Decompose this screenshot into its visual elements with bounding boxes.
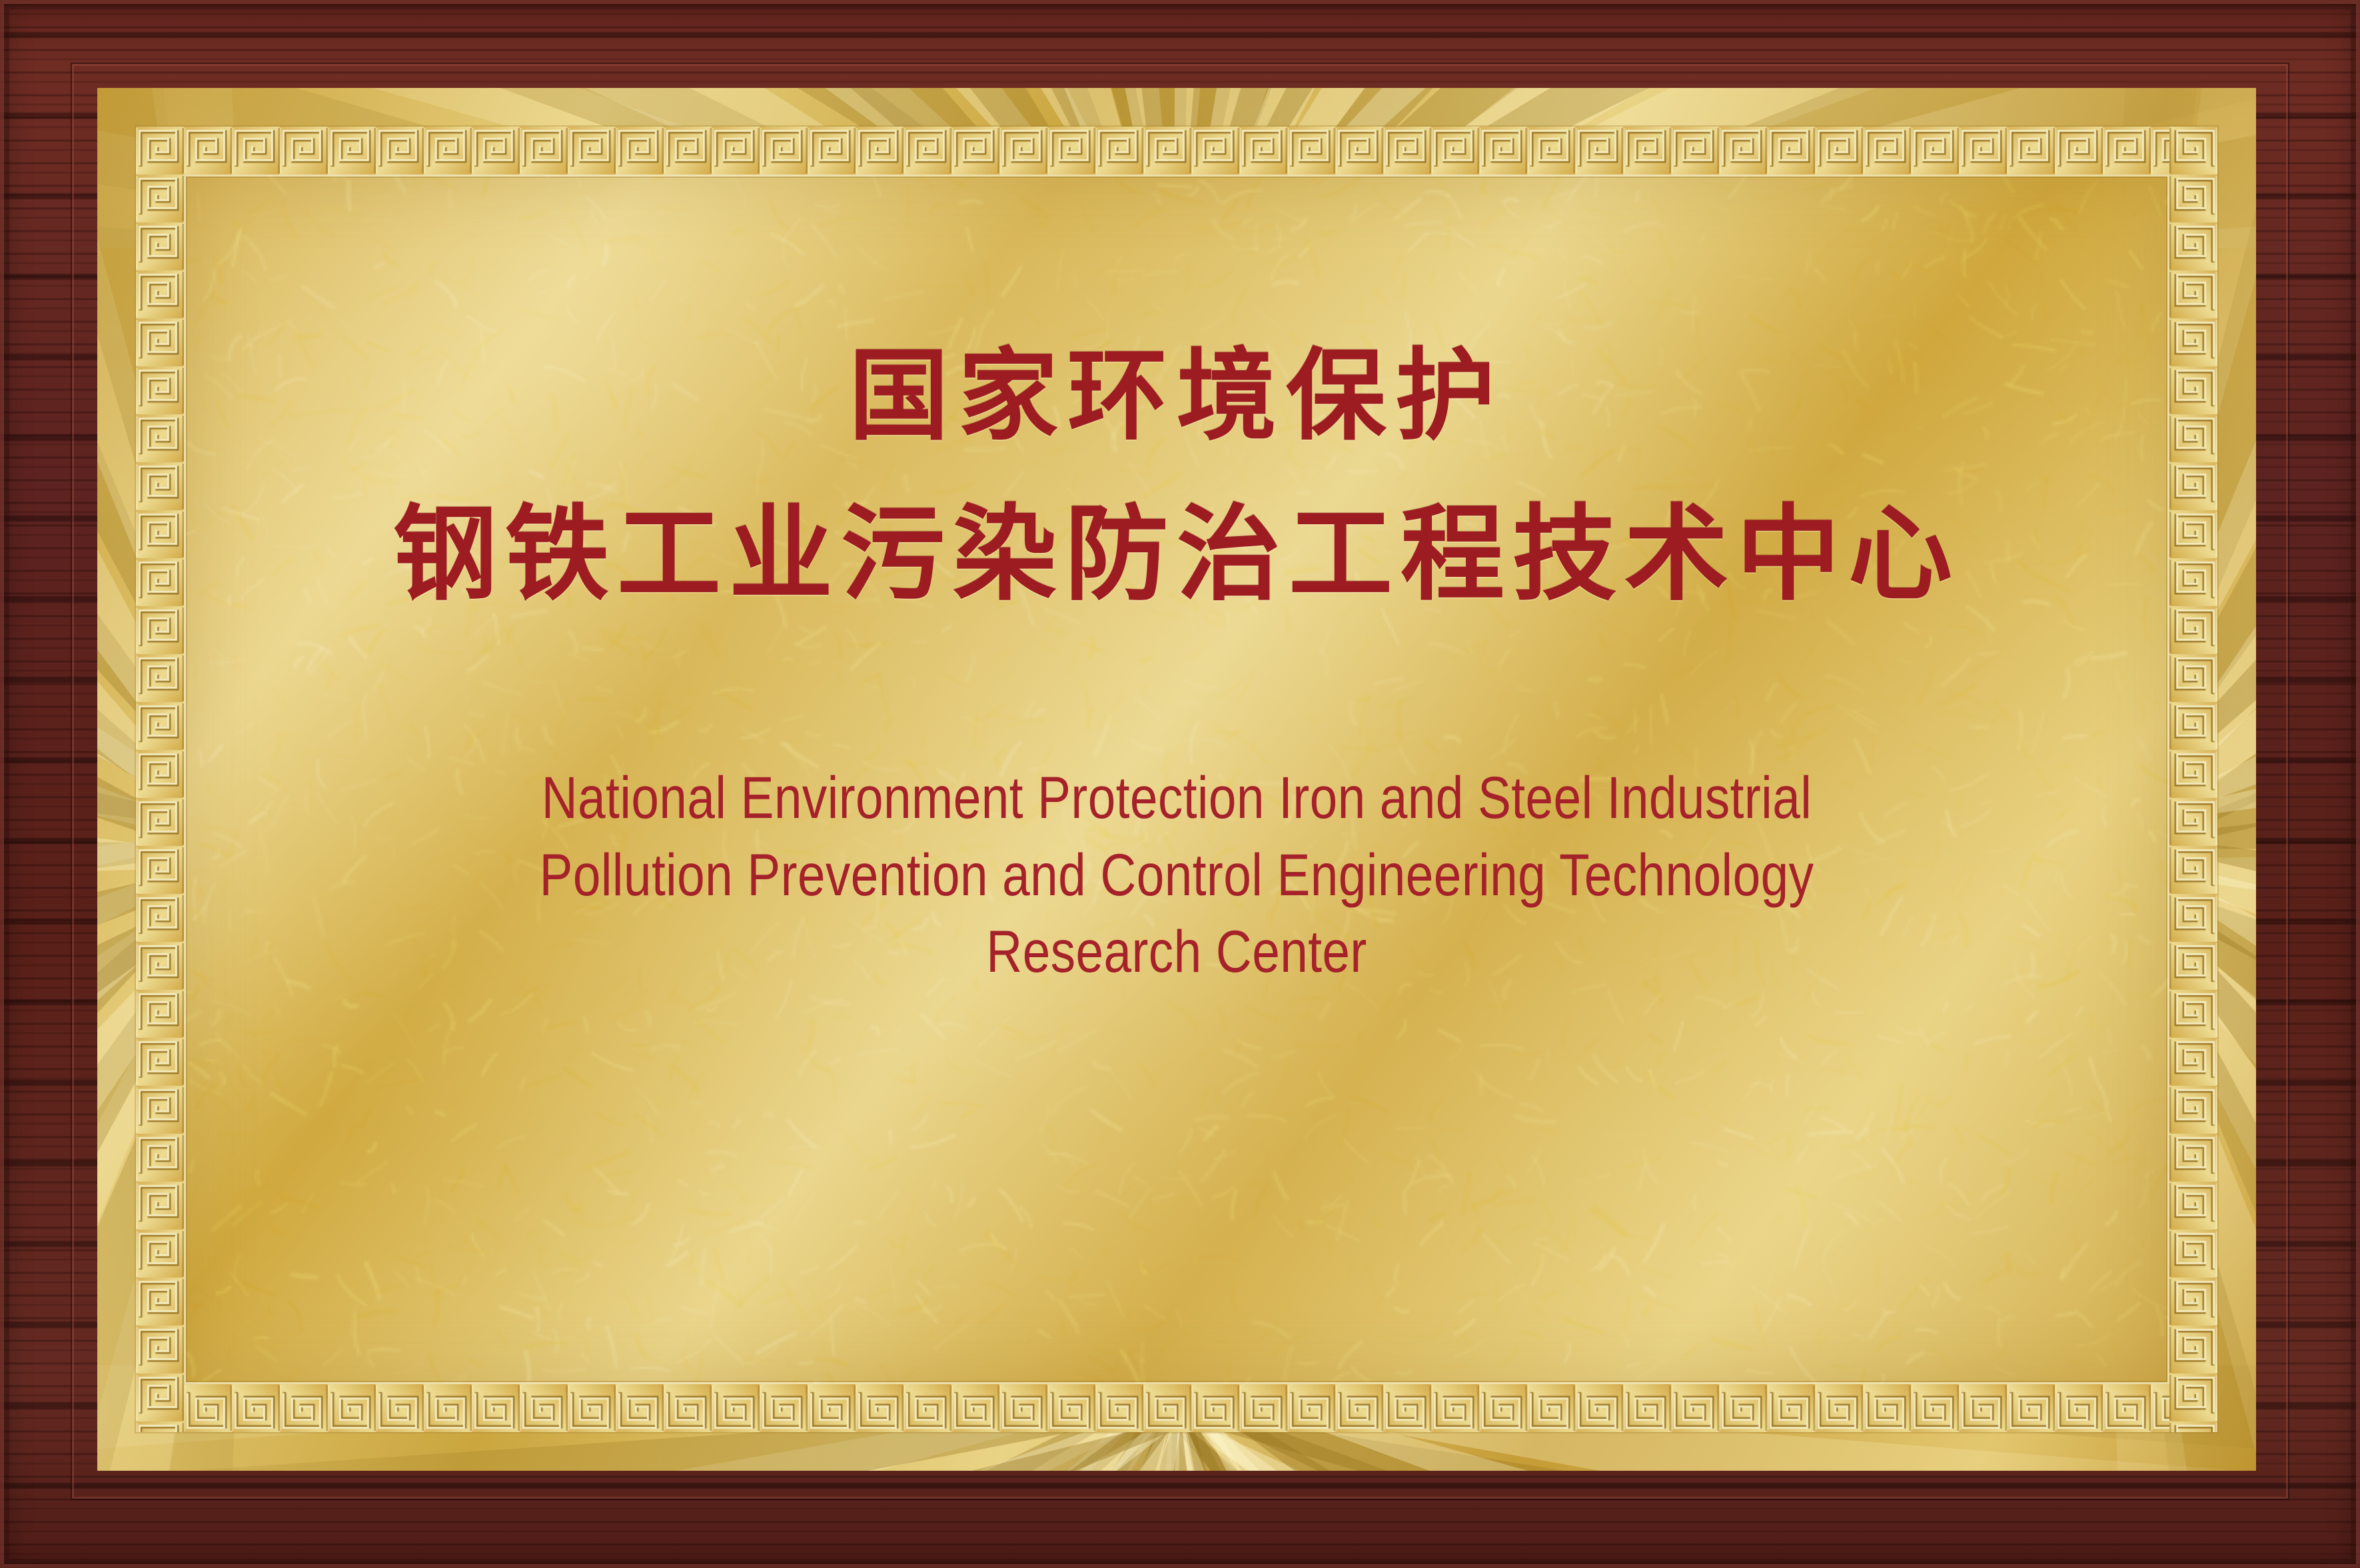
- english-subtitle-line-2: Pollution Prevention and Control Enginee…: [393, 837, 1960, 914]
- chinese-title-line-2: 钢铁工业污染防治工程技术中心: [393, 502, 1960, 606]
- award-plaque: 国家环境保护 钢铁工业污染防治工程技术中心 National Environme…: [0, 0, 2360, 1568]
- english-subtitle: National Environment Protection Iron and…: [393, 759, 1960, 990]
- english-subtitle-line-3: Research Center: [393, 913, 1960, 990]
- chinese-title-line-1: 国家环境保护: [849, 346, 1504, 446]
- plaque-text: 国家环境保护 钢铁工业污染防治工程技术中心 National Environme…: [97, 88, 2256, 1471]
- gold-plate: 国家环境保护 钢铁工业污染防治工程技术中心 National Environme…: [97, 88, 2256, 1471]
- english-subtitle-line-1: National Environment Protection Iron and…: [393, 759, 1960, 837]
